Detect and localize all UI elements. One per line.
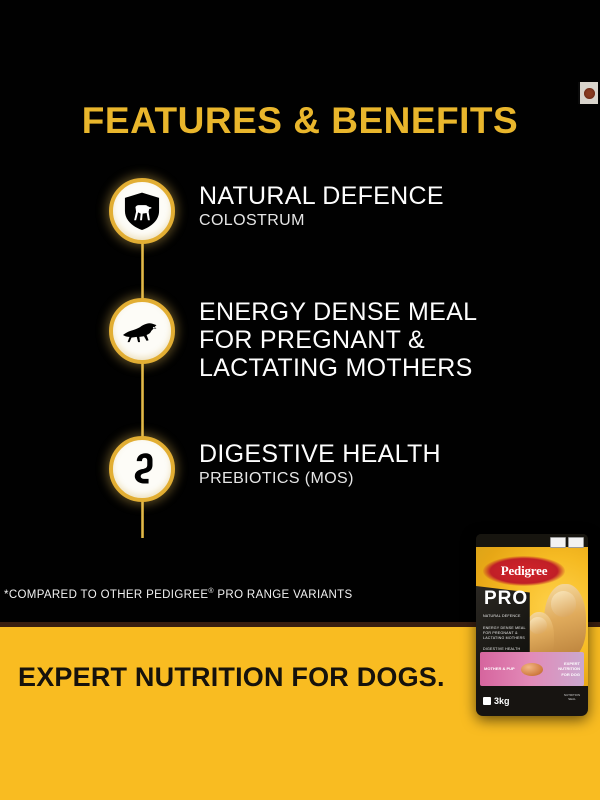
poster-canvas: FEATURES & BENEFITS NATURAL DEFENCE COLO… [0,0,600,800]
shield-dog-icon [109,178,175,244]
pack-segment-right: EXPERT NUTRITION FOR DOG [549,661,580,677]
feature-text-block: ENERGY DENSE MEAL FOR PREGNANT & LACTATI… [199,298,477,382]
footnote-disclaimer: *COMPARED TO OTHER PEDIGREE® PRO RANGE V… [4,588,353,601]
page-title: FEATURES & BENEFITS [0,100,600,142]
stomach-intestine-icon [109,436,175,502]
pack-nutrition-seal-icon: NUTRITION SEAL [562,694,582,710]
banner-tagline: EXPERT NUTRITION FOR DOGS. [18,662,445,693]
pack-feature-2: ENERGY DENSE MEAL FOR PREGNANT & LACTATI… [483,626,531,641]
product-pack-image: Pedigree PRO NATURAL DEFENCE ENERGY DENS… [476,534,588,716]
footnote-prefix: *COMPARED TO OTHER PEDIGREE [4,589,208,601]
feature-item-energy-dense-meal: ENERGY DENSE MEAL FOR PREGNANT & LACTATI… [0,298,477,382]
feature-text-block: DIGESTIVE HEALTH PREBIOTICS (MOS) [199,436,441,488]
feature-title-line-2: FOR PREGNANT & [199,326,477,354]
feature-title: NATURAL DEFENCE [199,182,444,210]
pack-segment-left: MOTHER & PUP [484,666,515,671]
feature-item-digestive-health: DIGESTIVE HEALTH PREBIOTICS (MOS) [0,436,441,502]
running-dog-icon [109,298,175,364]
pack-kibble-icon [521,663,543,676]
feature-title-line-3: LACTATING MOTHERS [199,354,477,382]
feature-text-block: NATURAL DEFENCE COLOSTRUM [199,178,444,230]
footnote-suffix: PRO RANGE VARIANTS [214,589,353,601]
feature-title: DIGESTIVE HEALTH [199,440,441,468]
pack-weight-value: 3kg [494,696,510,706]
pack-badge-2 [568,537,584,548]
pack-badges [550,537,584,548]
pack-weight-icon [483,697,491,705]
feature-subtitle: COLOSTRUM [199,212,444,230]
pack-badge-1 [550,537,566,548]
pack-footer: 3kg NUTRITION SEAL [476,686,588,716]
feature-item-natural-defence: NATURAL DEFENCE COLOSTRUM [0,178,444,244]
pack-segment-band: MOTHER & PUP EXPERT NUTRITION FOR DOG [480,652,584,686]
pack-product-line: PRO [484,588,528,610]
feature-title-line-1: ENERGY DENSE MEAL [199,298,477,326]
pack-weight: 3kg [483,696,510,706]
pack-brand-name: Pedigree [501,563,548,579]
pack-feature-1: NATURAL DEFENCE [483,614,531,619]
feature-subtitle: PREBIOTICS (MOS) [199,470,441,488]
red-dot [584,88,595,99]
pack-brand-logo: Pedigree [483,556,565,586]
